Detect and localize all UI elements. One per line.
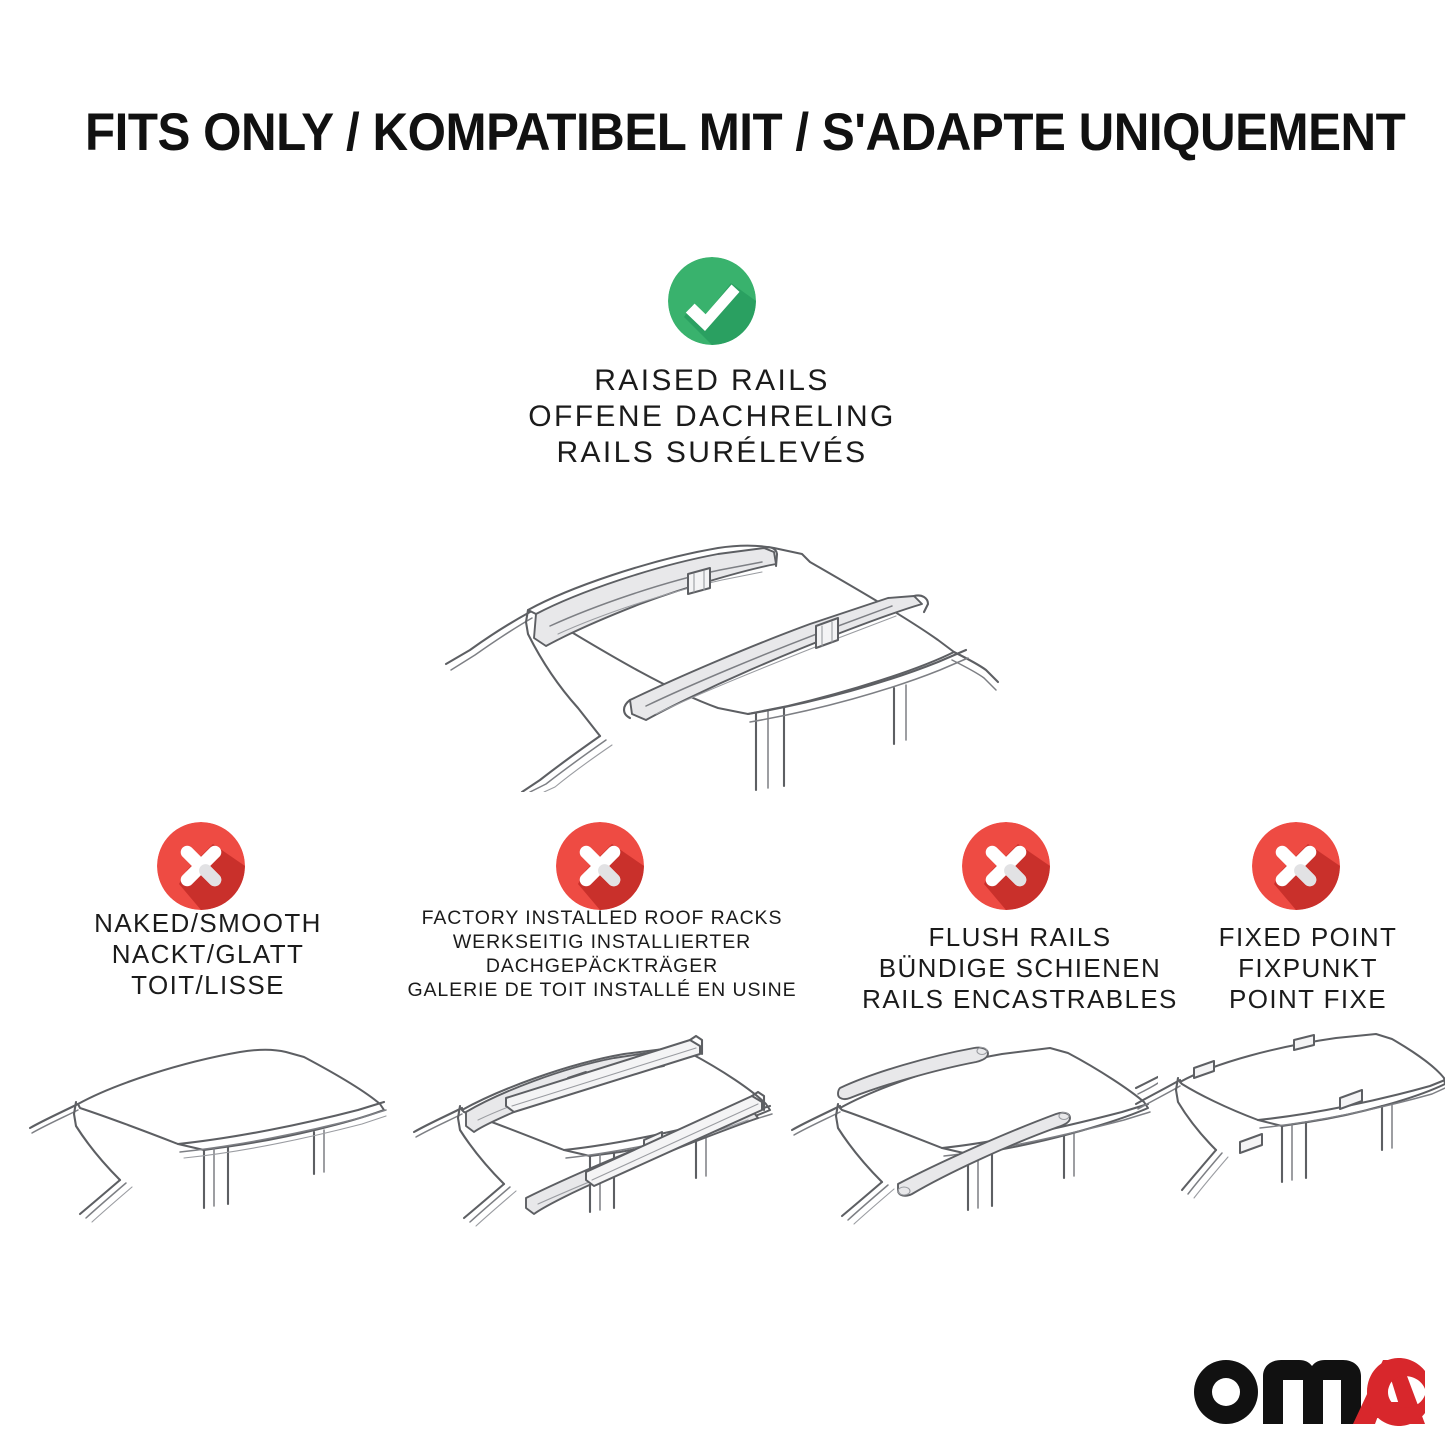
omac-logo: OMAC (1193, 1358, 1425, 1426)
flush-rails-line-3: RAILS ENCASTRABLES (836, 984, 1204, 1015)
car-roof-flush-rails-illustration (778, 1022, 1158, 1252)
fixed-point-line-1: FIXED POINT (1172, 922, 1444, 953)
raised-rails-label-group: RAISED RAILS OFFENE DACHRELING RAILS SUR… (372, 363, 1052, 471)
raised-rails-line-1: RAISED RAILS (372, 363, 1052, 399)
factory-racks-line-1: FACTORY INSTALLED ROOF RACKS (372, 906, 832, 930)
infographic-page: FITS ONLY / KOMPATIBEL MIT / S'ADAPTE UN… (0, 0, 1445, 1445)
car-roof-fixed-point-illustration (1128, 1022, 1445, 1252)
check-circle-icon (668, 257, 756, 345)
factory-racks-line-3: DACHGEPÄCKTRÄGER (372, 954, 832, 978)
naked-smooth-line-3: TOIT/LISSE (28, 970, 388, 1001)
cross-circle-icon (962, 822, 1050, 910)
car-roof-naked-smooth-illustration (18, 1022, 388, 1252)
flush-rails-label-group: FLUSH RAILS BÜNDIGE SCHIENEN RAILS ENCAS… (836, 922, 1204, 1015)
factory-racks-label-group: FACTORY INSTALLED ROOF RACKS WERKSEITIG … (372, 906, 832, 1002)
page-title: FITS ONLY / KOMPATIBEL MIT / S'ADAPTE UN… (85, 103, 1275, 163)
raised-rails-line-3: RAILS SURÉLEVÉS (372, 435, 1052, 471)
raised-rails-line-2: OFFENE DACHRELING (372, 399, 1052, 435)
cross-circle-icon (556, 822, 644, 910)
cross-circle-icon (1252, 822, 1340, 910)
cross-circle-icon (157, 822, 245, 910)
fixed-point-label-group: FIXED POINT FIXPUNKT POINT FIXE (1172, 922, 1444, 1015)
factory-racks-line-2: WERKSEITIG INSTALLIERTER (372, 930, 832, 954)
car-roof-factory-roof-racks-illustration (400, 1012, 780, 1247)
car-roof-with-raised-rails-illustration (418, 492, 1038, 792)
flush-rails-line-2: BÜNDIGE SCHIENEN (836, 953, 1204, 984)
flush-rails-line-1: FLUSH RAILS (836, 922, 1204, 953)
fixed-point-line-2: FIXPUNKT (1172, 953, 1444, 984)
naked-smooth-label-group: NAKED/SMOOTH NACKT/GLATT TOIT/LISSE (28, 908, 388, 1001)
naked-smooth-line-2: NACKT/GLATT (28, 939, 388, 970)
factory-racks-line-4: GALERIE DE TOIT INSTALLÉ EN USINE (372, 978, 832, 1002)
naked-smooth-line-1: NAKED/SMOOTH (28, 908, 388, 939)
fixed-point-line-3: POINT FIXE (1172, 984, 1444, 1015)
